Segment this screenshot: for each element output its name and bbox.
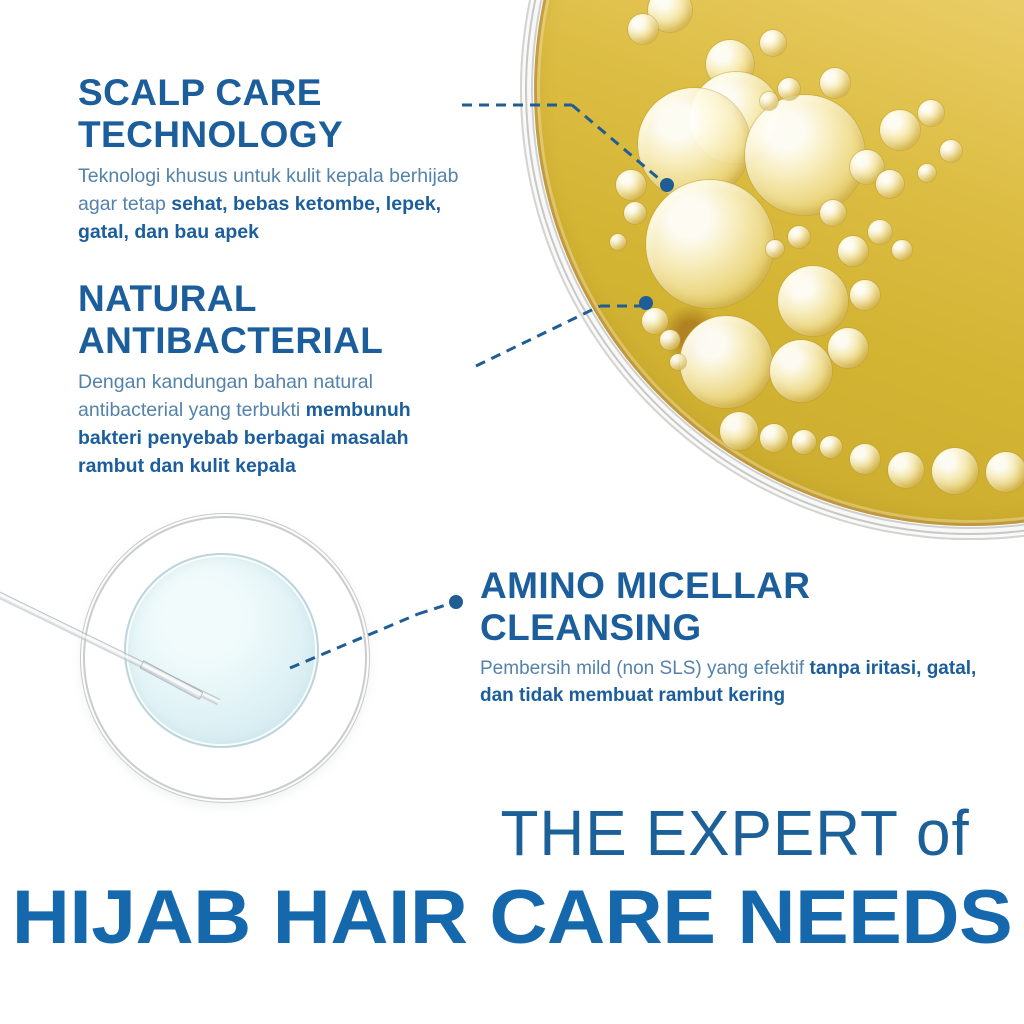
oil-bubble (918, 164, 936, 182)
bottom-headline: THE EXPERT of HIJAB HAIR CARE NEEDS (0, 800, 1024, 960)
feature-scalp-care-technology: SCALP CARE TECHNOLOGY Teknologi khusus u… (78, 72, 478, 246)
oil-bubble (820, 436, 842, 458)
feature-body-scalp-care: Teknologi khusus untuk kulit kepala berh… (78, 162, 478, 246)
feature-title-scalp-care: SCALP CARE TECHNOLOGY (78, 72, 478, 156)
oil-bubble (720, 412, 758, 450)
oil-bubble (876, 170, 904, 198)
feature-title-line1: SCALP CARE (78, 72, 322, 113)
oil-bubble (680, 316, 772, 408)
oil-bubble (610, 234, 626, 250)
oil-bubble (616, 170, 646, 200)
oil-bubble (918, 100, 944, 126)
poster-canvas: SCALP CARE TECHNOLOGY Teknologi khusus u… (0, 0, 1024, 1024)
petri-dish-clear-liquid (124, 553, 319, 748)
oil-bubble (932, 448, 978, 494)
oil-bubble (892, 240, 912, 260)
oil-bubble (660, 330, 680, 350)
leader-line-amino-horizontal (418, 603, 452, 614)
oil-bubble (646, 180, 774, 308)
oil-bubble (888, 452, 924, 488)
oil-bubble (940, 140, 962, 162)
oil-bubble (770, 340, 832, 402)
feature-title-line2: CLEANSING (480, 607, 702, 648)
feature-body-natural-antibacterial: Dengan kandungan bahan natural antibacte… (78, 368, 478, 480)
oil-bubble (778, 266, 848, 336)
oil-bubble (642, 308, 668, 334)
feature-body-normal: Pembersih mild (non SLS) yang efektif (480, 658, 810, 679)
oil-bubble (850, 444, 880, 474)
leader-dot-amino (449, 595, 463, 609)
petri-dish-golden (520, 0, 1024, 540)
oil-bubble (838, 236, 868, 266)
oil-bubble (766, 240, 784, 258)
feature-title-natural-antibacterial: NATURAL ANTIBACTERIAL (78, 278, 478, 362)
feature-title-line2: ANTIBACTERIAL (78, 320, 383, 361)
feature-title-amino-micellar: AMINO MICELLAR CLEANSING (480, 565, 1000, 649)
oil-bubble (880, 110, 920, 150)
oil-bubble (760, 30, 786, 56)
headline-line-1: THE EXPERT of (31, 800, 1024, 866)
oil-bubble (868, 220, 892, 244)
oil-bubble (828, 328, 868, 368)
oil-bubble (820, 200, 846, 226)
oil-bubble (792, 430, 816, 454)
oil-bubble (670, 354, 686, 370)
feature-body-amino-micellar: Pembersih mild (non SLS) yang efektif ta… (480, 655, 1000, 709)
feature-title-line2: TECHNOLOGY (78, 114, 343, 155)
oil-bubble (745, 95, 865, 215)
feature-natural-antibacterial: NATURAL ANTIBACTERIAL Dengan kandungan b… (78, 278, 478, 480)
oil-bubble (850, 280, 880, 310)
oil-bubble (820, 68, 850, 98)
feature-title-line1: AMINO MICELLAR (480, 565, 810, 606)
feature-amino-micellar-cleansing: AMINO MICELLAR CLEANSING Pembersih mild … (480, 565, 1000, 709)
petri-dish-clear (80, 513, 370, 803)
oil-bubble (760, 92, 778, 110)
oil-bubble (760, 424, 788, 452)
oil-bubble (986, 452, 1024, 492)
headline-line-2: HIJAB HAIR CARE NEEDS (0, 876, 1024, 960)
oil-bubble (628, 14, 658, 44)
oil-bubble (624, 202, 646, 224)
oil-bubble (788, 226, 810, 248)
oil-bubble (778, 78, 800, 100)
feature-title-line1: NATURAL (78, 278, 257, 319)
